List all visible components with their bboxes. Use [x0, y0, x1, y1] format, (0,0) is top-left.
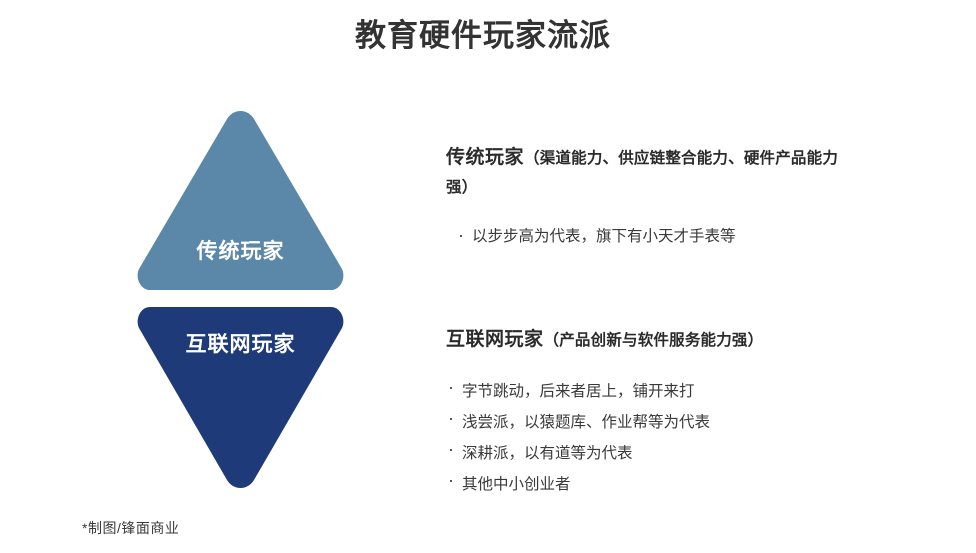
up-triangle-icon	[133, 107, 348, 294]
slide-canvas: 教育硬件玩家流派 传统玩家 互联网玩家 传统玩家（渠道能力、供应链整合能力、硬件…	[0, 0, 976, 553]
internet-players-heading: 互联网玩家（产品创新与软件服务能力强）	[446, 325, 846, 355]
traditional-heading-main: 传统玩家	[446, 147, 524, 168]
diagram-bottom-triangle[interactable]	[133, 303, 348, 493]
internet-players-bullets: 字节跳动，后来者居上，铺开来打 浅尝派，以猿题库、作业帮等为代表 深耕派，以有道…	[446, 376, 846, 500]
list-item: 浅尝派，以猿题库、作业帮等为代表	[446, 407, 846, 438]
diamond-diagram: 传统玩家 互联网玩家	[133, 107, 348, 493]
traditional-players-heading: 传统玩家（渠道能力、供应链整合能力、硬件产品能力强）	[446, 143, 846, 202]
list-item: 其他中小创业者	[446, 469, 846, 500]
down-triangle-icon	[133, 303, 348, 493]
internet-heading-main: 互联网玩家	[446, 329, 544, 350]
source-footnote: *制图/锋面商业	[82, 518, 179, 538]
traditional-players-group: 传统玩家（渠道能力、供应链整合能力、硬件产品能力强） 以步步高为代表，旗下有小天…	[446, 143, 846, 249]
internet-players-group: 互联网玩家（产品创新与软件服务能力强） 字节跳动，后来者居上，铺开来打 浅尝派，…	[446, 325, 846, 500]
diagram-top-triangle[interactable]	[133, 107, 348, 294]
list-item: 以步步高为代表，旗下有小天才手表等	[456, 224, 846, 249]
page-title: 教育硬件玩家流派	[0, 17, 976, 55]
list-item: 字节跳动，后来者居上，铺开来打	[446, 376, 846, 407]
list-item: 深耕派，以有道等为代表	[446, 438, 846, 469]
traditional-players-bullets: 以步步高为代表，旗下有小天才手表等	[456, 224, 846, 249]
internet-heading-sub: （产品创新与软件服务能力强）	[544, 332, 764, 349]
page-title-text: 教育硬件玩家流派	[355, 17, 611, 55]
